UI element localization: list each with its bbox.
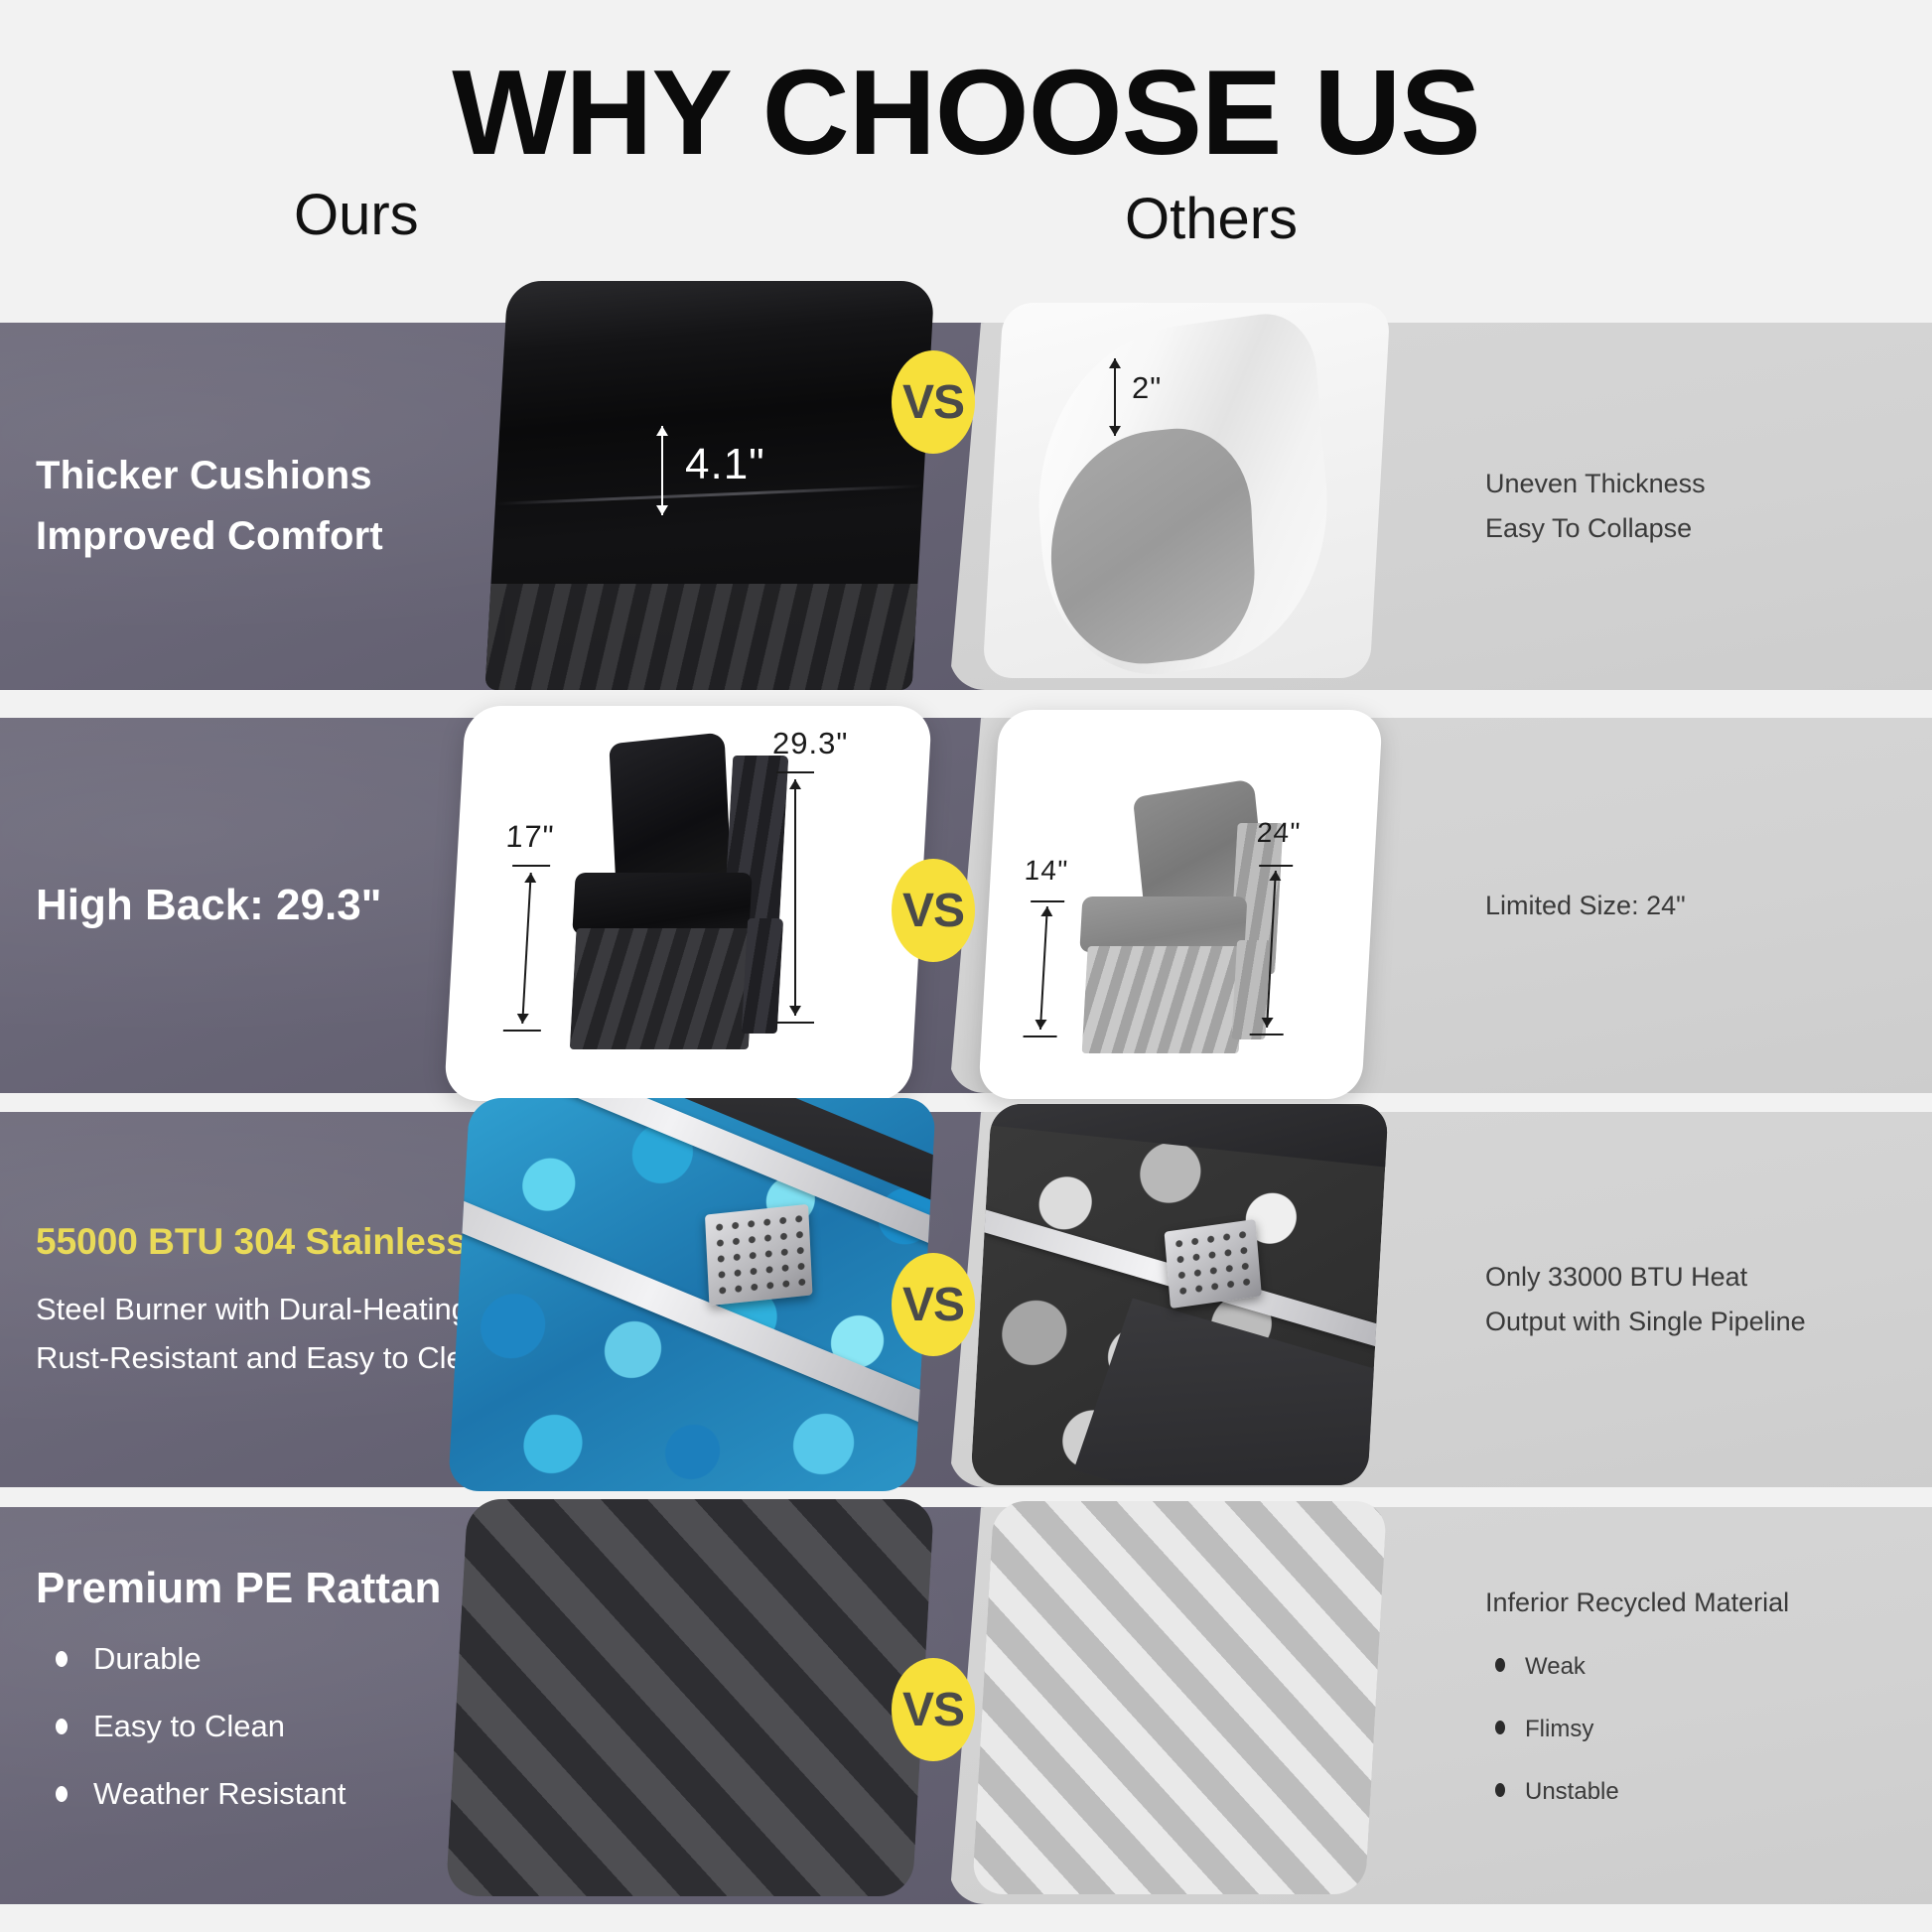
others-high-back-line1: Limited Size: 24" <box>1485 884 1902 928</box>
others-text-burner: Only 33000 BTU Heat Output with Single P… <box>1485 1112 1902 1487</box>
others-chair-seat-label: 14" <box>1024 855 1069 887</box>
others-rattan-bullet: Weak <box>1485 1655 1902 1679</box>
vs-badge-high-back: VS <box>892 859 975 962</box>
page-title: WHY CHOOSE US <box>0 52 1932 173</box>
gray-rattan-chair-photo: 14" 24" <box>978 710 1383 1099</box>
vs-badge-cushions: VS <box>892 350 975 454</box>
others-foam-dimension-label: 2" <box>1132 370 1162 406</box>
ours-chair-seat-tick-top <box>512 865 550 867</box>
comparison-row-burner: 55000 BTU 304 Stainless Steel Burner wit… <box>0 1112 1932 1487</box>
light-recycled-weave-photo <box>972 1501 1387 1894</box>
others-chair-back-label: 24" <box>1256 817 1302 849</box>
others-chair-seat-tick-top <box>1031 900 1064 902</box>
comparison-row-high-back: High Back: 29.3" 17" 29.3" VS <box>0 718 1932 1093</box>
others-rattan-bullet-list: Weak Flimsy Unstable <box>1485 1655 1902 1843</box>
others-cushions-line1: Uneven Thickness <box>1485 462 1902 506</box>
ours-chair-back-tick-top <box>776 771 814 773</box>
ours-cushions-line1: Thicker Cushions <box>36 446 552 506</box>
others-chair-rattan-base <box>1082 946 1245 1053</box>
others-chair-back-tick-top <box>1259 865 1293 867</box>
others-chair-seat-arrow <box>1039 906 1048 1030</box>
others-chair-back-tick-bottom <box>1250 1034 1284 1035</box>
others-chair-seat-tick-bottom <box>1024 1035 1057 1037</box>
comparison-row-rattan: Premium PE Rattan Durable Easy to Clean … <box>0 1507 1932 1904</box>
burner-ignition-box <box>705 1204 813 1306</box>
dark-pe-rattan-weave-photo <box>446 1499 934 1896</box>
infographic-page: WHY CHOOSE US Ours Others Thicker Cushio… <box>0 0 1932 1932</box>
others-rattan-title: Inferior Recycled Material <box>1485 1581 1902 1625</box>
ours-chair-back-cushion <box>609 732 731 894</box>
ours-chair-seat-arrow <box>521 873 531 1024</box>
others-text-cushions: Uneven Thickness Easy To Collapse <box>1485 323 1902 690</box>
others-burner-line2: Output with Single Pipeline <box>1485 1300 1902 1344</box>
others-text-rattan: Inferior Recycled Material Weak Flimsy U… <box>1485 1507 1902 1904</box>
others-rattan-bullet: Flimsy <box>1485 1718 1902 1741</box>
others-chair-seat-cushion <box>1079 897 1247 952</box>
ours-chair-seat-label: 17" <box>505 819 556 855</box>
vs-badge-burner: VS <box>892 1253 975 1356</box>
ours-chair-seat-cushion <box>572 873 752 934</box>
clear-fire-glass-burner-photo <box>970 1104 1388 1485</box>
burner-pipe-lower <box>448 1188 936 1447</box>
vs-badge-rattan: VS <box>892 1658 975 1761</box>
ours-chair-rattan-base <box>570 928 756 1049</box>
header: WHY CHOOSE US Ours Others <box>0 0 1932 318</box>
others-burner-frame-top <box>970 1104 1388 1172</box>
others-burner-line1: Only 33000 BTU Heat <box>1485 1255 1902 1300</box>
column-label-others: Others <box>1125 191 1298 248</box>
others-foam-dimension-arrow <box>1114 358 1116 436</box>
black-rattan-chair-photo: 17" <box>444 706 932 1101</box>
blue-fire-glass-burner-photo <box>448 1098 936 1491</box>
comparison-row-cushions: Thicker Cushions Improved Comfort 4.1" V… <box>0 323 1932 690</box>
ours-cushion-dimension-label: 4.1" <box>685 440 765 489</box>
others-burner-ignition-box <box>1165 1219 1262 1309</box>
ours-chair-seat-tick-bottom <box>503 1030 541 1032</box>
white-foam-roll-photo <box>982 303 1390 678</box>
others-text-high-back: Limited Size: 24" <box>1485 718 1902 1093</box>
ours-chair-back-tick-bottom <box>776 1022 814 1024</box>
column-label-ours: Ours <box>294 187 419 244</box>
ours-chair-graphic <box>541 734 857 1061</box>
others-cushions-line2: Easy To Collapse <box>1485 506 1902 551</box>
ours-cushion-dimension-arrow <box>661 426 663 515</box>
ours-chair-base-right <box>742 918 783 1034</box>
ours-text-cushions: Thicker Cushions Improved Comfort <box>36 323 552 690</box>
others-rattan-bullet: Unstable <box>1485 1780 1902 1804</box>
ours-chair-back-label: 29.3" <box>772 726 848 761</box>
cushion-rattan-base <box>484 584 917 690</box>
ours-cushions-line2: Improved Comfort <box>36 506 552 567</box>
ours-chair-back-arrow <box>794 779 796 1016</box>
